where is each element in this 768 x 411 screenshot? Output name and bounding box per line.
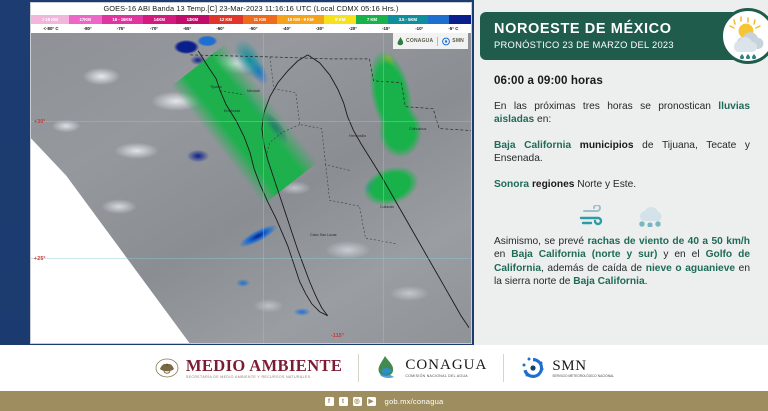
color-scale: > 18 KM17KM16 - 16KM14KM13KM12 KM11 KM10… (31, 15, 471, 33)
scale-swatch-3: 14KM (143, 15, 176, 24)
footer-social-bar: f t ◎ ▶ gob.mx/conagua (0, 391, 768, 411)
place-label-3: Hermosillo (349, 134, 366, 138)
region-qualifier-1: regiones (532, 179, 574, 190)
logo-divider-2 (503, 354, 504, 382)
scale-swatch-0: > 18 KM (31, 15, 69, 24)
satellite-watermark: CONAGUA SMN (393, 33, 468, 49)
footer-logos: MEDIO AMBIENTE SECRETARÍA DE MEDIO AMBIE… (0, 345, 768, 391)
scale-swatch-4: 13KM (176, 15, 209, 24)
logo-medio-ambiente: MEDIO AMBIENTE SECRETARÍA DE MEDIO AMBIE… (154, 355, 342, 381)
color-scale-temperatures: <-80° C-80°-75°-70°-65°-60°-50°-40°-30°-… (31, 24, 471, 33)
conagua-text: CONAGUA COMISIÓN NACIONAL DEL AGUA (405, 357, 487, 379)
time-range-heading: 06:00 a 09:00 horas (494, 74, 750, 87)
conagua-watermark: CONAGUA (397, 37, 433, 46)
weather-badge (720, 8, 768, 64)
satellite-image: +30°+25°-115° CONAGUA SMN Tijuana (31, 33, 471, 343)
sun-cloud-rain-icon (725, 13, 768, 59)
scale-swatch-5: 12 KM (209, 15, 243, 24)
closing-highlight-snow: nieve o aguanieve (646, 263, 735, 274)
smn-spiral-logo-icon (520, 355, 546, 381)
satellite-panel: GOES-16 ABI Banda 13 Temp.[C] 23-Mar-202… (30, 2, 472, 344)
place-label-6: Cabo San Lucas (310, 233, 337, 237)
color-scale-swatches: > 18 KM17KM16 - 16KM14KM13KM12 KM11 KM10… (31, 15, 471, 24)
region-qualifier-0: municipios (580, 140, 634, 151)
scale-temp-2: -75° (104, 24, 137, 33)
region-detail-1: Norte y Este. (574, 179, 636, 190)
smn-text: SMN SERVICIO METEOROLÓGICO NACIONAL (552, 358, 614, 378)
scale-temp-7: -40° (270, 24, 303, 33)
scale-swatch-11 (428, 15, 450, 24)
conagua-drop-icon (397, 37, 404, 46)
footer: MEDIO AMBIENTE SECRETARÍA DE MEDIO AMBIE… (0, 345, 768, 411)
region-state-1: Sonora (494, 179, 529, 190)
scale-temp-0: <-80° C (31, 24, 71, 33)
mexico-eagle-seal-icon (154, 355, 180, 381)
smn-watermark: SMN (442, 37, 464, 46)
logo-conagua: CONAGUA COMISIÓN NACIONAL DEL AGUA (375, 355, 487, 381)
scale-temp-12: -5° C (436, 24, 471, 33)
facebook-icon[interactable]: f (325, 397, 334, 406)
forecast-panel: NOROESTE DE MÉXICO PRONÓSTICO 23 DE MARZ… (474, 0, 768, 345)
place-label-1: Mexicali (247, 89, 260, 93)
region-paragraph-0: Baja California municipios de Tijuana, T… (494, 139, 750, 166)
scale-temp-10: -15° (370, 24, 403, 33)
grid-label-1: +25° (34, 256, 46, 262)
satellite-title: GOES-16 ABI Banda 13 Temp.[C] 23-Mar-202… (31, 3, 471, 15)
logo-smn: SMN SERVICIO METEOROLÓGICO NACIONAL (520, 355, 614, 381)
grid-label-2: -115° (331, 333, 344, 339)
closing-highlight-bc2: Baja California (573, 276, 644, 287)
closing-paragraph: Asimismo, se prevé rachas de viento de 4… (494, 235, 750, 289)
place-label-5: Culiacán (380, 205, 394, 209)
wind-icon (577, 205, 607, 227)
smn-spiral-icon (442, 37, 450, 46)
forecast-body: 06:00 a 09:00 horas En las próximas tres… (474, 60, 768, 289)
instagram-icon[interactable]: ◎ (353, 397, 362, 406)
watermark-divider (437, 37, 438, 46)
closing-highlight-wind: rachas de viento de 40 a 50 km/h (587, 236, 750, 247)
scale-swatch-12 (449, 15, 471, 24)
scale-swatch-10: 3.5 - 5KM (388, 15, 428, 24)
snow-cloud-icon (633, 205, 667, 227)
scale-swatch-2: 16 - 16KM (102, 15, 143, 24)
scale-temp-11: -10° (403, 24, 436, 33)
twitter-icon[interactable]: t (339, 397, 348, 406)
scale-swatch-6: 11 KM (243, 15, 277, 24)
scale-swatch-7: 10 KM - 9 KM (277, 15, 325, 24)
scale-temp-3: -70° (137, 24, 170, 33)
scale-temp-8: -30° (303, 24, 336, 33)
place-label-4: Chihuahua (409, 127, 426, 131)
scale-temp-4: -65° (171, 24, 204, 33)
lat-lon-grid: +30°+25°-115° (31, 33, 471, 343)
conagua-eagle-water-icon (375, 355, 399, 381)
scale-temp-6: -50° (237, 24, 270, 33)
logo-divider-1 (358, 354, 359, 382)
closing-highlight-bc: Baja California (norte y sur) (511, 249, 657, 260)
header-banner: NOROESTE DE MÉXICO PRONÓSTICO 23 DE MARZ… (480, 12, 768, 60)
place-label-2: Ensenada (224, 109, 240, 113)
scale-temp-9: -20° (336, 24, 369, 33)
youtube-icon[interactable]: ▶ (367, 397, 376, 406)
scale-swatch-1: 17KM (69, 15, 102, 24)
scale-swatch-8: 8 KM (324, 15, 356, 24)
scale-temp-5: -60° (204, 24, 237, 33)
footer-url[interactable]: gob.mx/conagua (385, 397, 444, 406)
region-paragraph-1: Sonora regiones Norte y Este. (494, 178, 750, 191)
condition-icons (494, 203, 750, 229)
intro-paragraph: En las próximas tres horas se pronostica… (494, 100, 750, 127)
infographic-root: GOES-16 ABI Banda 13 Temp.[C] 23-Mar-202… (0, 0, 768, 411)
grid-label-0: +30° (34, 119, 46, 125)
scale-temp-1: -80° (71, 24, 104, 33)
region-state-0: Baja California (494, 140, 571, 151)
scale-swatch-9: 7 KM (356, 15, 388, 24)
medio-ambiente-text: MEDIO AMBIENTE SECRETARÍA DE MEDIO AMBIE… (186, 357, 342, 380)
place-label-0: Tijuana (210, 85, 222, 89)
